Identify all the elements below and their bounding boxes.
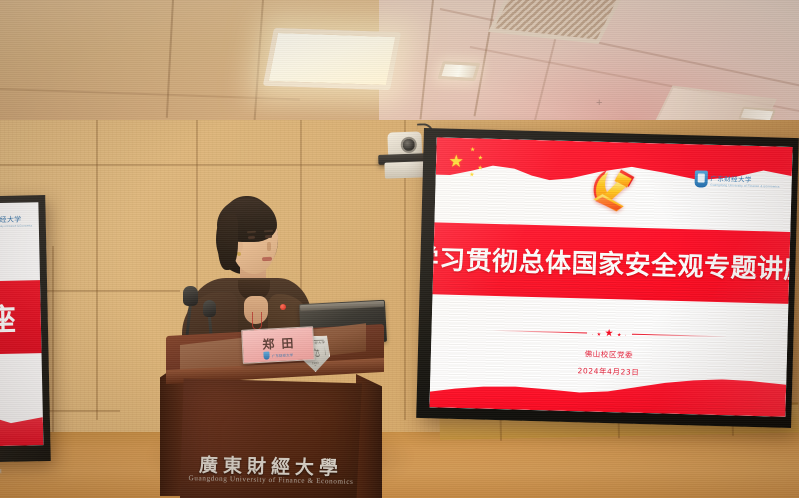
speaker-earring — [237, 252, 241, 256]
slide-university-logo: 广东财经大学 Guangdong University of Finance &… — [694, 170, 780, 189]
speaker-hair-side — [218, 214, 238, 270]
ceiling-seam — [253, 0, 264, 128]
presentation-slide: ★ ★ ★ ★ ★ — [429, 137, 792, 417]
ceiling-seam — [166, 0, 174, 118]
wall-seam — [0, 164, 410, 166]
divider-stars: · ★ ★ ★ · — [591, 328, 627, 340]
university-mark-icon — [694, 170, 707, 187]
crest-year: 1983 — [300, 360, 330, 365]
slide-divider: · ★ ★ ★ · — [492, 325, 727, 342]
divider-line-left — [492, 330, 587, 334]
ceiling-spotlight — [438, 61, 481, 81]
main-display-bezel: ★ ★ ★ ★ ★ — [416, 128, 799, 428]
ceiling-smudge: + — [596, 98, 606, 108]
cpc-emblem-icon — [584, 161, 643, 215]
speaker-mouth — [262, 257, 272, 261]
slide-logo-text: 广东财经大学 Guangdong University of Finance &… — [710, 172, 780, 188]
side-logo-english: Guangdong University of Finance & Econom… — [0, 224, 32, 228]
chinese-flag-icon: ★ ★ ★ ★ ★ — [448, 147, 524, 198]
speaker-eye — [265, 235, 272, 238]
ceiling-light-panel — [263, 28, 401, 90]
main-display-screen: ★ ★ ★ ★ ★ — [429, 137, 792, 417]
side-university-logo: 广东财经大学 Guangdong University of Finance &… — [0, 212, 32, 230]
podium: 廣東財經大學 Guangdong University of Finance &… — [166, 330, 384, 498]
flag-star-small: ★ — [470, 148, 476, 154]
speaker-eye — [248, 236, 255, 239]
nameplate-logo-text: 广东财经大学 — [272, 352, 294, 358]
flag-star-large: ★ — [448, 153, 464, 170]
flag-star-small: ★ — [469, 173, 475, 179]
university-mark-icon — [264, 351, 270, 359]
side-bottom-wave — [0, 401, 43, 446]
flag-star-small: ★ — [478, 156, 484, 162]
slide-organization: 佛山校区党委 — [431, 344, 787, 365]
microphone-head — [203, 300, 216, 317]
main-display[interactable]: ★ ★ ★ ★ ★ — [416, 128, 799, 428]
slide-title: 学习贯彻总体国家安全观专题讲座 — [433, 222, 791, 303]
camera-mount-plate — [384, 161, 425, 178]
lecture-hall-photo: + 广东财经大学 — [0, 0, 799, 498]
slide-date: 2024年4月23日 — [430, 361, 786, 382]
slide-logo-english: Guangdong University of Finance & Econom… — [710, 182, 779, 188]
side-logo-text: 广东财经大学 Guangdong University of Finance &… — [0, 214, 32, 228]
speaker-nameplate: 郑田 广东财经大学 — [241, 326, 315, 364]
speaker-necklace — [252, 312, 262, 330]
microphone-head — [183, 286, 198, 306]
ceiling: + — [0, 0, 799, 132]
side-display-screen: 广东财经大学 Guangdong University of Finance &… — [0, 202, 43, 447]
speaker-nose — [267, 242, 271, 251]
speaker-lapel-pin — [280, 304, 286, 310]
divider-line-right — [632, 334, 727, 338]
podium-front-text-area: 廣東財經大學 Guangdong University of Finance &… — [180, 376, 362, 498]
side-display-bezel: 广东财经大学 Guangdong University of Finance &… — [0, 195, 51, 463]
flag-star-small: ★ — [477, 166, 483, 172]
side-title-fragment: 座 — [0, 280, 42, 355]
side-display[interactable]: 广东财经大学 Guangdong University of Finance &… — [0, 195, 51, 463]
side-display-brand-badge: 创维 — [0, 468, 3, 475]
